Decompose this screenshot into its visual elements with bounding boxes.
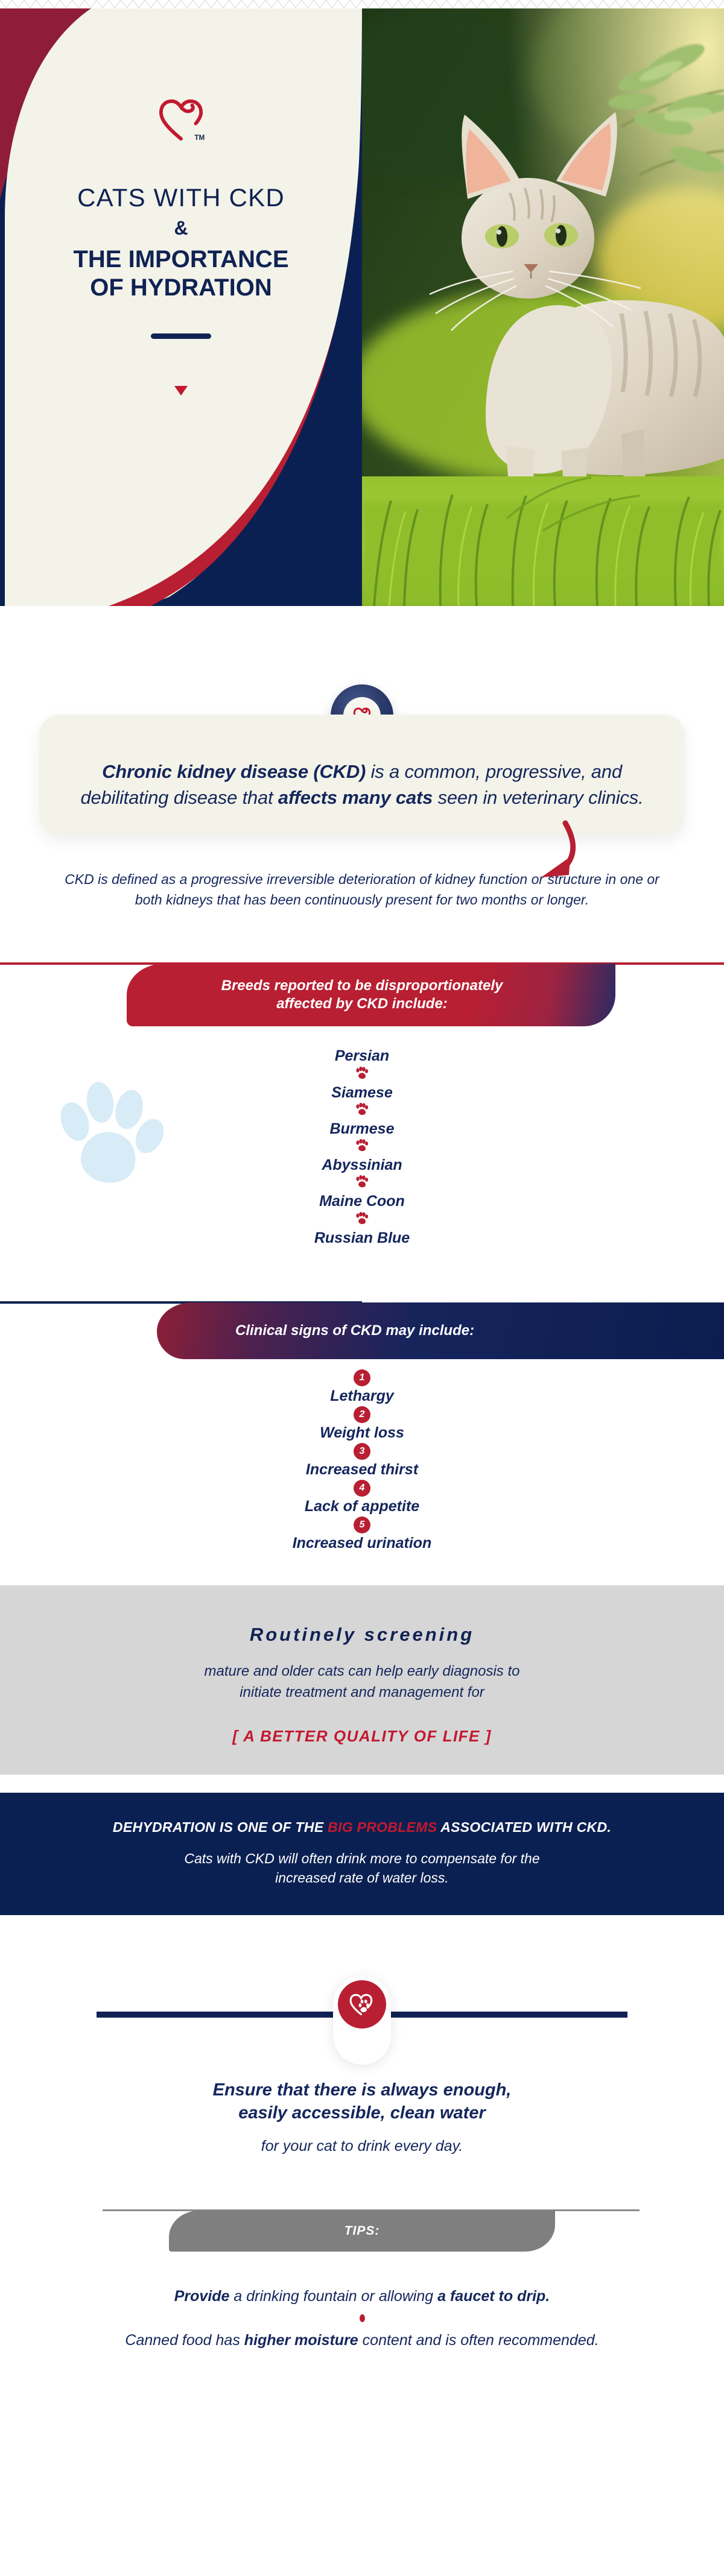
water-section: Ensure that there is always enough, easi…: [0, 1971, 724, 2170]
status-badge: 5: [354, 1517, 370, 1533]
clinical-signs-list: 1 Lethargy 2 Weight loss 3 Increased thi…: [0, 1368, 724, 1552]
clinical-signs-banner-row: Clinical signs of CKD may include:: [0, 1293, 724, 1359]
zigzag-decoration-icon: [0, 0, 724, 8]
screening-quality-callout: [ A BETTER QUALITY OF LIFE ]: [0, 1727, 724, 1746]
triangle-down-icon: [174, 386, 188, 396]
page-title-line2a: THE IMPORTANCE: [73, 245, 288, 274]
breeds-banner-row: Breeds reported to be disproportionately…: [0, 955, 724, 1026]
screening-subtext-line1: mature and older cats can help early dia…: [0, 1661, 724, 1682]
page-title-ampersand: &: [174, 217, 188, 239]
clinical-signs-section: Clinical signs of CKD may include: 1 Let…: [0, 1293, 724, 1552]
paw-print-icon: [0, 1175, 724, 1191]
hero-cat-photo: [362, 0, 724, 606]
list-item: Lack of appetite: [0, 1498, 724, 1515]
header-hero: TM CATS WITH CKD & THE IMPORTANCE OF HYD…: [0, 0, 724, 606]
dehydration-subtext-line2: increased rate of water loss.: [0, 1868, 724, 1887]
screening-subtext-line2: initiate treatment and management for: [0, 1682, 724, 1703]
intro-quote-text: Chronic kidney disease (CKD) is a common…: [75, 759, 649, 811]
tip2-regular-b: content and is often recommended.: [358, 2332, 599, 2349]
water-main-line2: easily accessible, clean water: [0, 2102, 724, 2125]
tip1-bold-a: Provide: [174, 2288, 230, 2305]
status-badge: 4: [354, 1480, 370, 1497]
water-badge: [333, 1975, 391, 2065]
quote-bold-2: affects many cats: [278, 787, 433, 808]
paw-print-icon: [0, 1212, 724, 1228]
screening-section: Routinely screening mature and older cat…: [0, 1585, 724, 1774]
water-content: Ensure that there is always enough, easi…: [0, 1971, 724, 2170]
status-badge: 2: [354, 1406, 370, 1423]
water-text: Ensure that there is always enough, easi…: [0, 2079, 724, 2155]
svg-text:TM: TM: [194, 134, 205, 142]
status-badge: 1: [354, 1369, 370, 1386]
heart-paw-icon: [338, 1980, 386, 2028]
dehydration-headline-pre: DEHYDRATION IS ONE OF THE: [113, 1819, 328, 1835]
list-item: Burmese: [0, 1121, 724, 1137]
quote-bold-1: Chronic kidney disease (CKD): [102, 761, 366, 782]
dehydration-subtext-line1: Cats with CKD will often drink more to c…: [0, 1849, 724, 1868]
screening-heading: Routinely screening: [0, 1624, 724, 1646]
paw-print-icon: [0, 1067, 724, 1082]
screening-subtext: mature and older cats can help early dia…: [0, 1661, 724, 1702]
breeds-banner-line2: affected by CKD include:: [221, 995, 503, 1013]
breeds-section: Breeds reported to be disproportionately…: [0, 955, 724, 1266]
header-content: TM CATS WITH CKD & THE IMPORTANCE OF HYD…: [0, 0, 362, 606]
breeds-content: Persian Siamese Burmese Abyssinian Maine…: [0, 1037, 724, 1266]
list-item: Lethargy: [0, 1388, 724, 1404]
list-item: Increased thirst: [0, 1462, 724, 1478]
tip1-bold-b: a faucet to drip.: [437, 2288, 550, 2305]
tip1-regular-b: or allowing: [361, 2288, 437, 2305]
curved-arrow-down-icon: [528, 819, 582, 886]
breeds-banner-line1: Breeds reported to be disproportionately: [221, 977, 503, 995]
dehydration-headline-post: ASSOCIATED WITH CKD.: [437, 1819, 611, 1835]
quote-regular-2: seen in veterinary clinics.: [433, 787, 643, 808]
water-sub-text: for your cat to drink every day.: [0, 2138, 724, 2155]
list-item: Abyssinian: [0, 1157, 724, 1173]
tips-section: TIPS: Provide a drinking fountain or all…: [0, 2173, 724, 2372]
breeds-banner: Breeds reported to be disproportionately…: [127, 964, 615, 1026]
list-item: Russian Blue: [0, 1230, 724, 1246]
list-item: Siamese: [0, 1085, 724, 1100]
water-main-line1: Ensure that there is always enough,: [0, 2079, 724, 2102]
tips-content: TIPS: Provide a drinking fountain or all…: [0, 2173, 724, 2372]
list-item: Persian: [0, 1048, 724, 1064]
dot-bullet-icon: [360, 2314, 365, 2322]
breeds-list: Persian Siamese Burmese Abyssinian Maine…: [0, 1048, 724, 1246]
list-item: Increased urination: [0, 1535, 724, 1552]
list-item: Weight loss: [0, 1425, 724, 1441]
status-badge: 3: [354, 1443, 370, 1460]
tips-tab-label: TIPS:: [169, 2211, 555, 2252]
dehydration-headline-highlight: BIG PROBLEMS: [328, 1819, 437, 1835]
tips-body: Provide a drinking fountain or allowing …: [0, 2287, 724, 2350]
dehydration-headline: DEHYDRATION IS ONE OF THE BIG PROBLEMS A…: [0, 1819, 724, 1836]
dehydration-section: DEHYDRATION IS ONE OF THE BIG PROBLEMS A…: [0, 1793, 724, 1915]
paw-print-icon: [0, 1139, 724, 1155]
intro-quote-card: Chronic kidney disease (CKD) is a common…: [39, 715, 685, 835]
tip1-regular-a: a drinking fountain: [229, 2288, 361, 2305]
dehydration-subtext: Cats with CKD will often drink more to c…: [0, 1849, 724, 1887]
intro-section: TM Chronic kidney disease (CKD) is a com…: [0, 606, 724, 911]
title-underline-rule: [151, 333, 211, 339]
list-item: Maine Coon: [0, 1193, 724, 1209]
clinical-signs-banner: Clinical signs of CKD may include:: [157, 1302, 724, 1359]
page-title-line2b: OF HYDRATION: [73, 274, 288, 302]
water-main-text: Ensure that there is always enough, easi…: [0, 2079, 724, 2124]
paw-print-icon: [0, 1103, 724, 1119]
tip2-regular-a: Canned food has: [125, 2332, 244, 2349]
heart-logo-icon: TM: [157, 96, 205, 144]
tip-line-2: Canned food has higher moisture content …: [0, 2331, 724, 2350]
page-title-line1: CATS WITH CKD: [77, 183, 285, 212]
tip2-bold-a: higher moisture: [244, 2332, 358, 2349]
page-title-line2: THE IMPORTANCE OF HYDRATION: [73, 245, 288, 302]
tip-line-1: Provide a drinking fountain or allowing …: [0, 2287, 724, 2306]
